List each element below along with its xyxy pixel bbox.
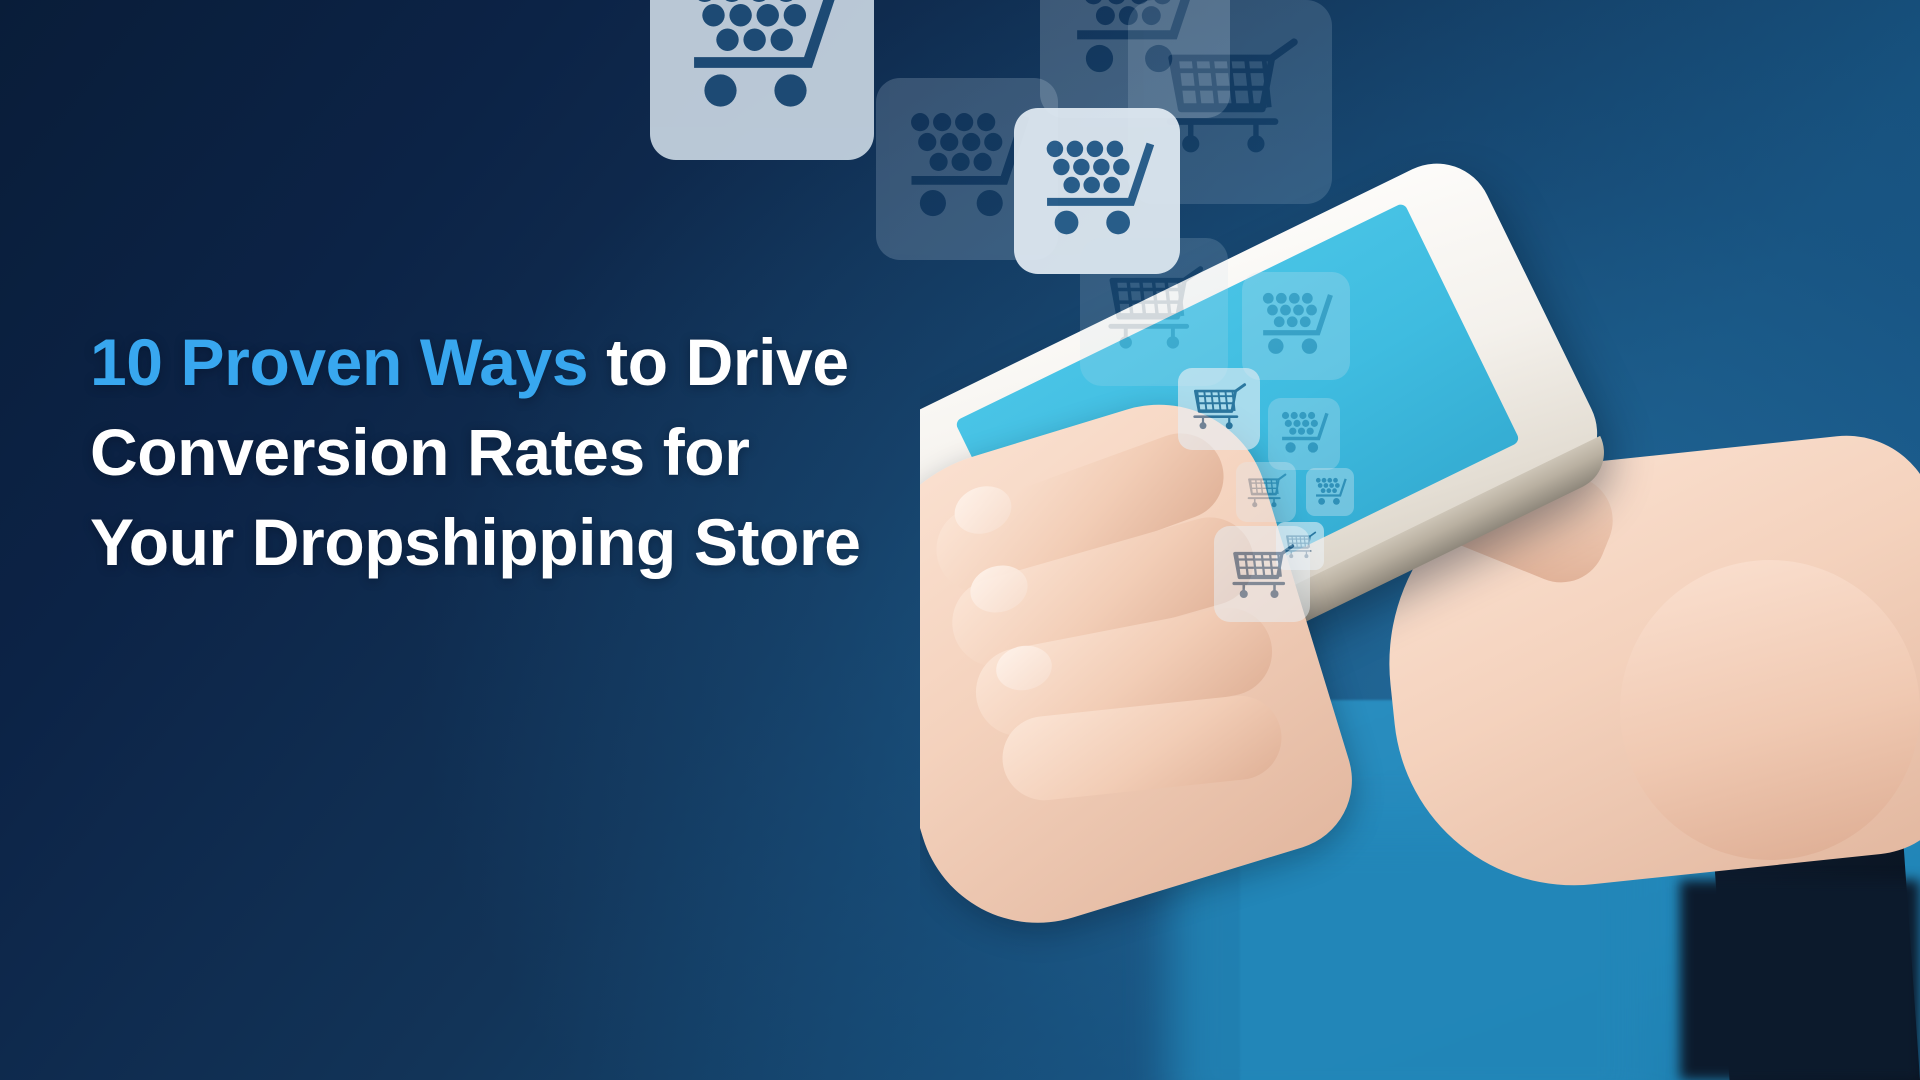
cart-tile-9 <box>1268 398 1340 470</box>
sleeve-shadow <box>1680 880 1920 1080</box>
shopping-cart-dots-icon <box>1033 127 1162 256</box>
headline-line-1: 10 Proven Ways to Drive <box>90 318 990 408</box>
cart-tile-6 <box>1080 238 1228 386</box>
shopping-cart-dots-icon <box>1254 284 1338 368</box>
shopping-cart-grid-icon <box>1243 469 1290 516</box>
shopping-cart-dots-icon <box>1312 474 1349 511</box>
shopping-cart-grid-icon <box>1187 377 1251 441</box>
cart-tile-11 <box>1306 468 1354 516</box>
shopping-cart-grid-icon <box>1187 377 1251 441</box>
headline-line-1-rest: to Drive <box>588 325 848 399</box>
shopping-cart-dots-icon <box>1033 127 1162 256</box>
hero-banner: 10 Proven Ways to Drive Conversion Rates… <box>0 0 1920 1080</box>
shopping-cart-grid-icon <box>1097 255 1212 370</box>
shopping-cart-dots-icon <box>1276 406 1332 462</box>
shopping-cart-grid-icon <box>1097 255 1212 370</box>
cart-tile-7 <box>1242 272 1350 380</box>
cart-tile-10 <box>1236 462 1296 522</box>
shopping-cart-dots-icon <box>675 0 850 136</box>
headline-line-2: Conversion Rates for <box>90 408 990 498</box>
shopping-cart-grid-icon <box>1225 537 1300 612</box>
shopping-cart-dots-icon <box>1312 474 1349 511</box>
cart-tile-1 <box>650 0 874 160</box>
right-hand-knuckle <box>1620 560 1920 860</box>
shopping-cart-dots-icon <box>675 0 850 136</box>
page-title: 10 Proven Ways to Drive Conversion Rates… <box>90 318 990 587</box>
headline-accent: 10 Proven Ways <box>90 325 588 399</box>
cart-tile-8 <box>1178 368 1260 450</box>
shopping-cart-dots-icon <box>1276 406 1332 462</box>
cart-tile-13 <box>1214 526 1310 622</box>
shopping-cart-grid-icon <box>1225 537 1300 612</box>
shopping-cart-grid-icon <box>1243 469 1290 516</box>
shopping-cart-dots-icon <box>1254 284 1338 368</box>
headline-line-3: Your Dropshipping Store <box>90 498 990 588</box>
